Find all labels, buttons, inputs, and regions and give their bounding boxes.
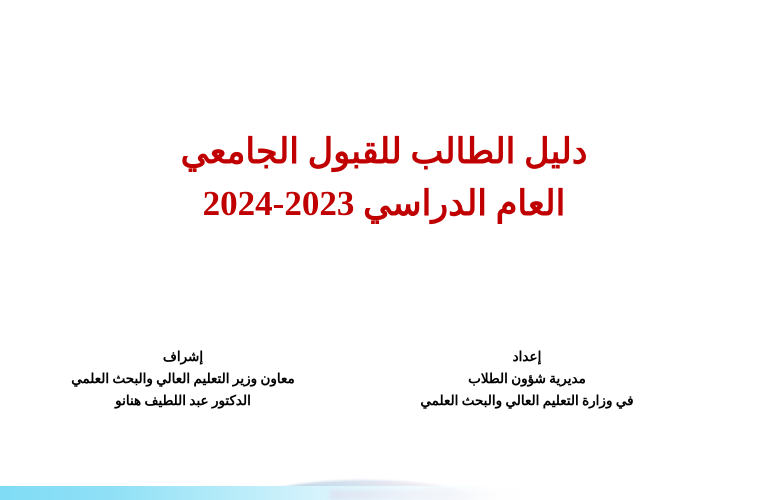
bottom-wave-decoration [0, 460, 768, 500]
wave-tint-shape [330, 490, 530, 500]
prepared-by-line-2: في وزارة التعليم العالي والبحث العلمي [362, 390, 692, 412]
credits-section: إعداد مديرية شؤون الطلاب في وزارة التعلي… [0, 346, 768, 456]
title-line-main: دليل الطالب للقبول الجامعي [0, 126, 768, 178]
prepared-by-line-1: مديرية شؤون الطلاب [362, 368, 692, 390]
supervised-by-line-1: معاون وزير التعليم العالي والبحث العلمي [18, 368, 348, 390]
prepared-by-block: إعداد مديرية شؤون الطلاب في وزارة التعلي… [362, 346, 692, 412]
wave-arc-shape [250, 480, 480, 500]
wave-band-shape [0, 486, 500, 500]
title-line-academic-year: العام الدراسي 2023-2024 [0, 178, 768, 230]
cover-page: دليل الطالب للقبول الجامعي العام الدراسي… [0, 0, 768, 500]
supervised-by-line-2: الدكتور عبد اللطيف هنانو [18, 390, 348, 412]
supervised-by-heading: إشراف [18, 346, 348, 368]
page-title: دليل الطالب للقبول الجامعي العام الدراسي… [0, 126, 768, 230]
supervised-by-block: إشراف معاون وزير التعليم العالي والبحث ا… [18, 346, 348, 412]
prepared-by-heading: إعداد [362, 346, 692, 368]
